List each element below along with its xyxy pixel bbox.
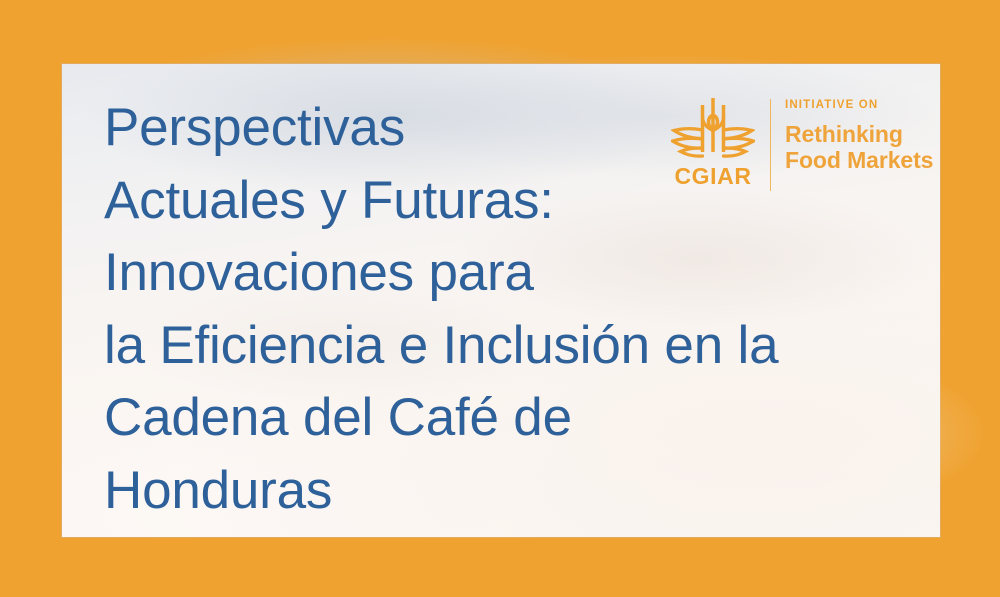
cgiar-wordmark: CGIAR [674, 165, 751, 188]
slide-canvas: Perspectivas Actuales y Futuras: Innovac… [0, 0, 1000, 597]
initiative-name-line-2: Food Markets [785, 147, 933, 173]
title-line-4: la Eficiencia e Inclusión en la [104, 310, 664, 383]
page-title: Perspectivas Actuales y Futuras: Innovac… [104, 92, 664, 527]
logo-divider [770, 99, 771, 191]
initiative-text-block: INITIATIVE ON Rethinking Food Markets [785, 93, 933, 173]
title-line-1: Perspectivas [104, 92, 664, 165]
initiative-name-line-1: Rethinking [785, 121, 933, 147]
title-line-2: Actuales y Futuras: [104, 165, 664, 238]
cgiar-brand-mark: CGIAR [667, 93, 759, 188]
cgiar-wheat-wings-icon [671, 93, 755, 163]
cgiar-initiative-logo: CGIAR INITIATIVE ON Rethinking Food Mark… [667, 93, 933, 191]
title-line-3: Innovaciones para [104, 237, 664, 310]
title-card: Perspectivas Actuales y Futuras: Innovac… [62, 64, 940, 537]
initiative-eyebrow: INITIATIVE ON [785, 100, 933, 112]
title-line-6: Honduras [104, 455, 664, 528]
title-line-5: Cadena del Café de [104, 382, 664, 455]
